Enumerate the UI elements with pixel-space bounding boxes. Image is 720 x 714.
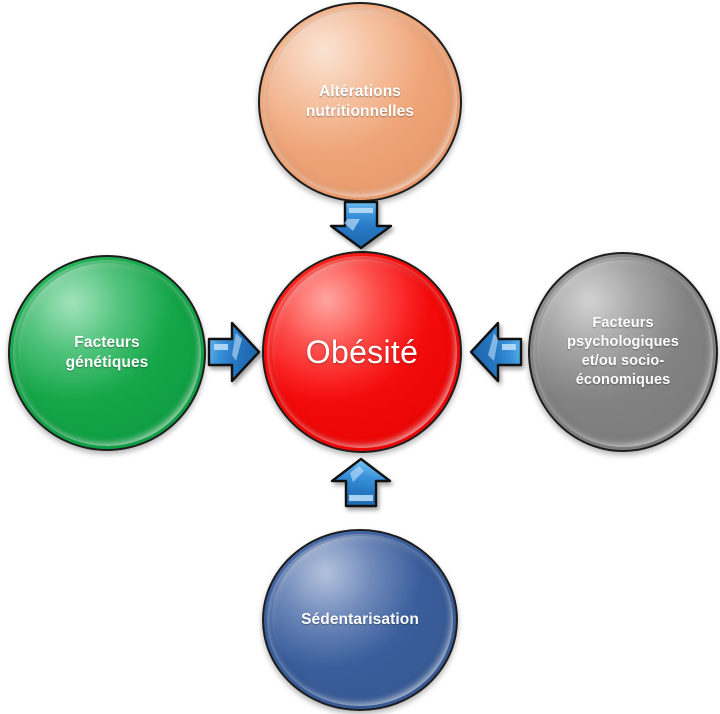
- diagram-canvas: Altérations nutritionnelles Facteurs gén…: [0, 0, 720, 714]
- node-label: Altérations nutritionnelles: [296, 82, 424, 122]
- node-obesite[interactable]: Obésité: [262, 251, 462, 453]
- node-label: Facteurs psychologiques et/ou socio- éco…: [557, 314, 689, 389]
- node-label-line-1: Facteurs: [592, 315, 653, 331]
- node-label-line-2: nutritionnelles: [306, 103, 414, 120]
- arrow-left-icon: [468, 317, 524, 387]
- arrow-right-icon: [206, 317, 262, 387]
- node-label-line-2: génétiques: [66, 354, 149, 371]
- node-label-line-3: et/ou socio-: [582, 353, 665, 369]
- node-facteurs-genetiques[interactable]: Facteurs génétiques: [8, 255, 206, 451]
- node-facteurs-psychologiques-socio-economiques[interactable]: Facteurs psychologiques et/ou socio- éco…: [528, 252, 718, 452]
- node-label-line-4: économiques: [576, 372, 671, 388]
- node-sedentarisation[interactable]: Sédentarisation: [262, 529, 458, 711]
- node-label: Facteurs génétiques: [56, 333, 159, 373]
- node-label-line-2: psychologiques: [567, 334, 679, 350]
- node-label-line-1: Facteurs: [74, 334, 139, 351]
- arrow-down-icon: [325, 199, 397, 251]
- node-label: Sédentarisation: [291, 610, 429, 630]
- arrow-up-icon: [326, 455, 396, 509]
- node-label-line-1: Altérations: [319, 83, 401, 100]
- node-label: Obésité: [296, 332, 428, 373]
- node-alterations-nutritionnelles[interactable]: Altérations nutritionnelles: [258, 2, 462, 202]
